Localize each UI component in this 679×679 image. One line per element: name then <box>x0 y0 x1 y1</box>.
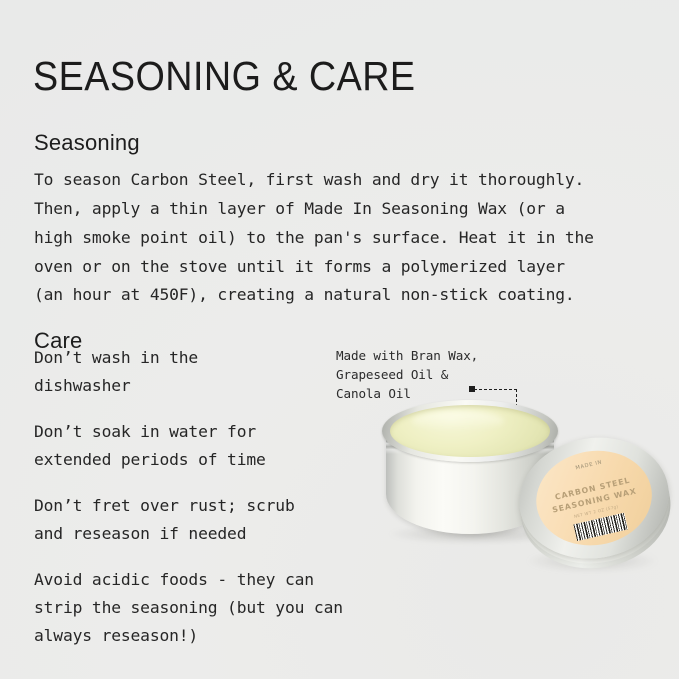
care-tips-list: Don’t wash in the dishwasher Don’t soak … <box>34 344 364 650</box>
seasoning-and-care-page: SEASONING & CARE Seasoning To season Car… <box>0 0 679 679</box>
care-tip-item: Don’t wash in the dishwasher <box>34 344 364 400</box>
page-title: SEASONING & CARE <box>33 53 416 100</box>
section-heading-seasoning: Seasoning <box>34 130 140 156</box>
care-tip-item: Don’t soak in water for extended periods… <box>34 418 364 474</box>
callout-leader-horizontal-line <box>474 389 517 390</box>
lid-product-label: MADE IN CARBON STEEL SEASONING WAX NET W… <box>529 443 658 554</box>
wax-sheen-highlight <box>412 411 504 431</box>
care-tip-item: Avoid acidic foods - they can strip the … <box>34 566 364 650</box>
care-tip-item: Don’t fret over rust; scrub and reseason… <box>34 492 364 548</box>
seasoning-wax-tin-photo: MADE IN CARBON STEEL SEASONING WAX NET W… <box>368 392 668 592</box>
seasoning-instructions-text: To season Carbon Steel, first wash and d… <box>34 166 649 310</box>
tin-lid: MADE IN CARBON STEEL SEASONING WAX NET W… <box>511 427 679 581</box>
